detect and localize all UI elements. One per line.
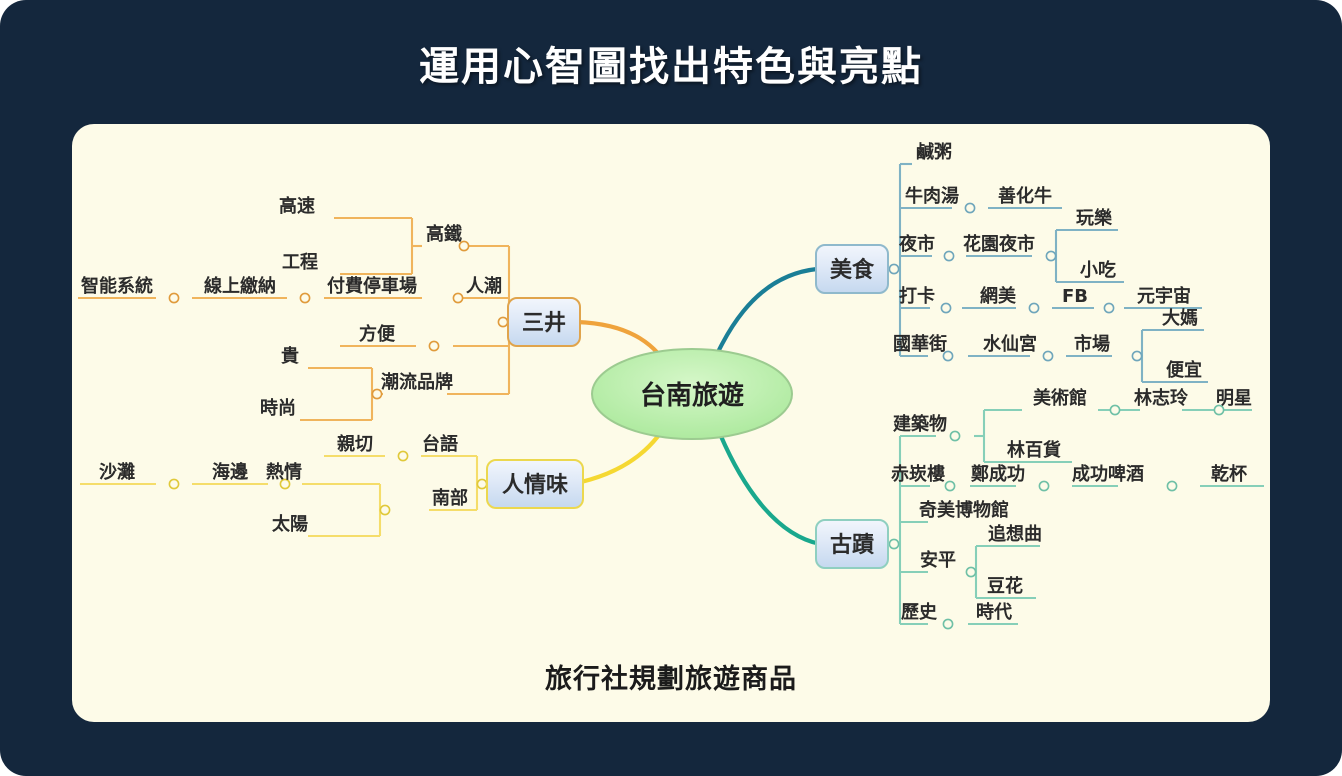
node-chaoliupinpai: 潮流品牌 [381,371,453,393]
node-huayuanyeshi: 花園夜市 [963,233,1035,255]
guji-labels: 建築物 美術館 林志玲 明星 林百貨 赤崁樓 鄭成功 成功啤酒 乾杯 奇美博物館… [891,387,1252,623]
dot-guji-root [889,539,898,548]
node-dama: 大媽 [1162,307,1198,329]
dot-jianzhuwu [950,431,959,440]
node-anping: 安平 [920,549,956,571]
node-wangmei: 網美 [980,285,1016,307]
branch-label-guji: 古蹟 [830,532,875,558]
node-fangbian: 方便 [359,323,396,345]
node-gongcheng: 工程 [282,252,318,273]
dot-nanbu [380,505,389,514]
branch-box-renqingwei[interactable]: 人情味 [487,460,583,508]
root-node-label: 台南旅遊 [640,380,744,411]
branch-box-guji[interactable]: 古蹟 [816,520,888,568]
canvas-caption: 旅行社規劃旅遊商品 [72,657,1270,696]
node-qinqie: 親切 [337,433,373,455]
node-zhengchenggong: 鄭成功 [971,463,1025,485]
node-renchao: 人潮 [466,276,502,297]
mindmap-svg: 高速 工程 高鐵 智能系統 線上繳納 付費停車場 人潮 方便 貴 時尚 潮流品牌 [72,124,1270,722]
node-zhinengxitong: 智能系統 [81,275,153,297]
dot-yeshi [944,251,953,260]
branch-box-sanjing[interactable]: 三井 [508,298,580,346]
node-niuroutang: 牛肉湯 [905,185,959,207]
dot-daka [941,303,950,312]
node-qimeibowuguan: 奇美博物館 [919,499,1009,521]
dot-zhinengxitong [169,293,178,302]
dot-zhengchenggong [1039,481,1048,490]
node-douhua: 豆花 [987,575,1023,597]
root-node[interactable]: 台南旅遊 [592,349,792,439]
dot-chenggongpijiu [1167,481,1176,490]
node-meishuguan: 美術館 [1033,387,1087,409]
node-linzhiling: 林志玲 [1134,387,1189,409]
dot-huayuanyeshi [1046,251,1055,260]
dot-shuixiangong [1043,351,1052,360]
node-shanhuaniu: 善化牛 [998,185,1052,207]
node-taiyu: 台語 [422,433,458,455]
node-shatan: 沙灘 [99,461,135,483]
dot-fb [1104,303,1113,312]
node-nanbu: 南部 [432,487,468,509]
dot-taiyu [398,451,407,460]
node-wanle: 玩樂 [1076,207,1113,229]
dot-niuroutang [965,203,974,212]
meishi-labels: 鹹粥 牛肉湯 善化牛 夜市 花園夜市 玩樂 小吃 打卡 網美 FB 元宇宙 國華… [893,141,1202,381]
node-gaosu: 高速 [279,195,315,217]
node-taiyang: 太陽 [272,513,308,535]
slide-panel: 運用心智圖找出特色與亮點 [0,0,1342,776]
dot-sanjing-root [498,317,507,326]
node-shichang: 市場 [1074,333,1110,355]
branch-label-meishi: 美食 [830,257,875,283]
node-gaotie: 高鐵 [426,223,462,245]
node-pianyi: 便宜 [1166,359,1202,381]
node-shidai: 時代 [976,602,1012,623]
node-yuanyuzhou: 元宇宙 [1137,285,1191,307]
dot-lishi [943,619,952,628]
node-ganbei: 乾杯 [1211,463,1248,485]
node-xianzhou: 鹹粥 [916,141,952,163]
node-xiaochi: 小吃 [1080,259,1116,281]
dot-shichang [1132,351,1141,360]
dot-meishi-root [889,264,898,273]
node-guohuajie: 國華街 [893,333,947,355]
page-title: 運用心智圖找出特色與亮點 [0,34,1342,92]
dot-renchao [453,293,462,302]
node-shuixiangong: 水仙宮 [983,333,1037,355]
dot-shatan [169,479,178,488]
dot-chikanlou [945,481,954,490]
dot-anping [966,567,975,576]
mindmap-canvas: 高速 工程 高鐵 智能系統 線上繳納 付費停車場 人潮 方便 貴 時尚 潮流品牌 [72,124,1270,722]
node-shishang: 時尚 [260,397,296,419]
node-gui: 貴 [281,345,299,367]
branch-label-sanjing: 三井 [522,311,566,336]
dot-xianshangjiaona [300,293,309,302]
node-lishi: 歷史 [901,601,938,623]
sanjing-dots [169,241,507,398]
node-haibian: 海邊 [212,461,249,483]
branch-box-meishi[interactable]: 美食 [816,245,888,293]
node-yeshi: 夜市 [898,233,935,255]
node-fufeitingchechang: 付費停車場 [327,275,417,297]
node-jianzhuwu: 建築物 [893,413,947,435]
node-reqing: 熱情 [266,461,302,483]
sanjing-labels: 高速 工程 高鐵 智能系統 線上繳納 付費停車場 人潮 方便 貴 時尚 潮流品牌 [81,195,502,419]
node-linbaihuo: 林百貨 [1007,439,1061,461]
node-mingxing: 明星 [1216,388,1252,409]
node-daka: 打卡 [899,285,935,307]
dot-wangmei [1029,303,1038,312]
node-fb: FB [1062,286,1088,307]
dot-meishuguan [1110,405,1119,414]
dot-renqingwei-root [477,479,486,488]
node-xianshangjiaona: 線上繳納 [204,275,276,297]
dot-jiebuche [429,341,438,350]
node-chenggongpijiu: 成功啤酒 [1072,463,1144,485]
node-chikanlou: 赤崁樓 [891,463,945,485]
node-zhuixiangqu: 追想曲 [988,523,1042,545]
branch-label-renqingwei: 人情味 [502,472,568,498]
